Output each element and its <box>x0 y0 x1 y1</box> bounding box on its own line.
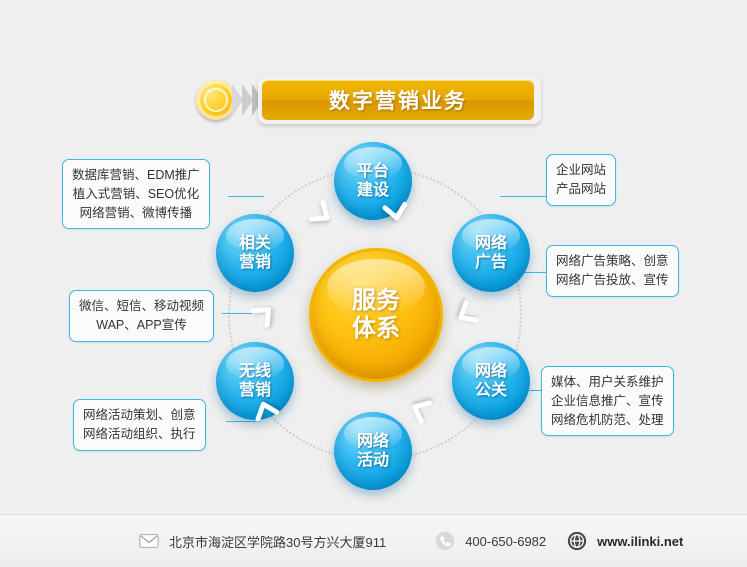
node-platform-line2: 建设 <box>357 181 389 200</box>
footer-phone-text: 400-650-6982 <box>465 534 546 549</box>
node-online-pr-line1: 网络 <box>475 362 507 381</box>
title-banner: 数字营销业务 <box>196 76 541 124</box>
gold-coin-icon <box>196 80 236 120</box>
node-online-pr-line2: 公关 <box>475 381 507 400</box>
callout-online-ad-line1: 网络广告策略、创意 <box>556 252 669 271</box>
footer-website-text: www.ilinki.net <box>597 534 683 549</box>
page-title: 数字营销业务 <box>329 85 467 115</box>
callout-online-pr-line3: 网络危机防范、处理 <box>551 411 664 430</box>
node-online-ad-line1: 网络 <box>475 234 507 253</box>
banner-inner: 数字营销业务 <box>262 80 534 120</box>
callout-related-marketing-line3: 网络营销、微博传播 <box>72 204 200 223</box>
diagram-canvas: 数字营销业务 服务 体系 平台 建设 网络 广告 网络 公关 <box>0 0 747 566</box>
callout-platform-line2: 产品网站 <box>556 180 606 199</box>
node-online-event-label: 网络 活动 <box>357 432 389 470</box>
node-online-pr[interactable]: 网络 公关 <box>452 342 530 420</box>
node-online-event-line1: 网络 <box>357 432 389 451</box>
callout-online-ad-line2: 网络广告投放、宣传 <box>556 271 669 290</box>
footer-address: 北京市海淀区学院路30号方兴大厦911 <box>138 530 386 552</box>
center-label-line2: 体系 <box>352 315 400 343</box>
flow-chevron-icon <box>381 198 411 228</box>
callout-online-event-line1: 网络活动策划、创意 <box>83 406 196 425</box>
callout-related-marketing: 数据库营销、EDM推广 植入式营销、SEO优化 网络营销、微博传播 <box>62 159 210 229</box>
node-online-ad[interactable]: 网络 广告 <box>452 214 530 292</box>
node-related-marketing-line2: 营销 <box>239 253 271 272</box>
node-related-marketing-label: 相关 营销 <box>239 234 271 272</box>
connector-platform <box>500 196 548 197</box>
callout-online-ad: 网络广告策略、创意 网络广告投放、宣传 <box>546 245 679 297</box>
node-platform-line1: 平台 <box>357 162 389 181</box>
callout-online-pr-line2: 企业信息推广、宣传 <box>551 392 664 411</box>
node-platform-label: 平台 建设 <box>357 162 389 200</box>
node-online-event[interactable]: 网络 活动 <box>334 412 412 490</box>
node-wireless-marketing-label: 无线 营销 <box>239 362 271 400</box>
connector-related-marketing <box>228 196 264 197</box>
callout-platform: 企业网站 产品网站 <box>546 154 616 206</box>
node-wireless-marketing-line1: 无线 <box>239 362 271 381</box>
node-related-marketing-line1: 相关 <box>239 234 271 253</box>
node-related-marketing[interactable]: 相关 营销 <box>216 214 294 292</box>
callout-related-marketing-line2: 植入式营销、SEO优化 <box>72 185 200 204</box>
node-online-ad-label: 网络 广告 <box>475 234 507 272</box>
center-label-line1: 服务 <box>352 287 400 315</box>
callout-online-event-line2: 网络活动组织、执行 <box>83 425 196 444</box>
node-online-event-line2: 活动 <box>357 451 389 470</box>
callout-wireless-marketing-line1: 微信、短信、移动视频 <box>79 297 204 316</box>
footer-address-text: 北京市海淀区学院路30号方兴大厦911 <box>169 532 386 551</box>
callout-platform-line1: 企业网站 <box>556 161 606 180</box>
callout-online-pr: 媒体、用户关系维护 企业信息推广、宣传 网络危机防范、处理 <box>541 366 674 436</box>
footer-bar: 北京市海淀区学院路30号方兴大厦911 400-650-6982 www.ili… <box>0 514 747 567</box>
callout-related-marketing-line1: 数据库营销、EDM推广 <box>72 166 200 185</box>
globe-icon <box>566 530 588 552</box>
callout-online-event: 网络活动策划、创意 网络活动组织、执行 <box>73 399 206 451</box>
center-node-service-system[interactable]: 服务 体系 <box>309 248 443 382</box>
telephone-icon <box>434 530 456 552</box>
footer-website[interactable]: www.ilinki.net <box>566 530 683 552</box>
footer-phone[interactable]: 400-650-6982 <box>434 530 546 552</box>
callout-wireless-marketing: 微信、短信、移动视频 WAP、APP宣传 <box>69 290 214 342</box>
callout-online-pr-line1: 媒体、用户关系维护 <box>551 373 664 392</box>
envelope-icon <box>138 530 160 552</box>
node-online-pr-label: 网络 公关 <box>475 362 507 400</box>
node-wireless-marketing-line2: 营销 <box>239 381 271 400</box>
callout-wireless-marketing-line2: WAP、APP宣传 <box>79 316 204 335</box>
node-online-ad-line2: 广告 <box>475 253 507 272</box>
center-node-label: 服务 体系 <box>352 287 400 342</box>
